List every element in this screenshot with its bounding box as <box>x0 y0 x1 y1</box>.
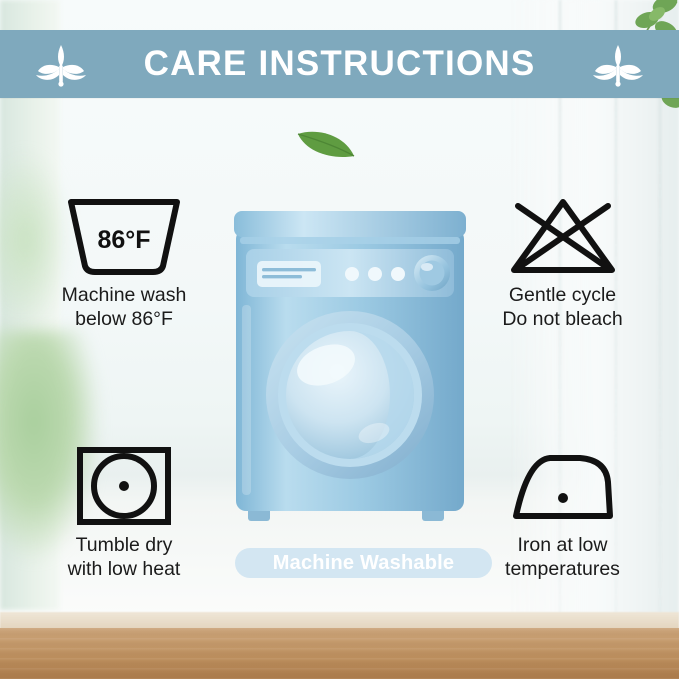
care-icon-tumble-dry: Tumble dry with low heat <box>14 446 234 582</box>
care-icon-machine-wash: 86°F Machine wash below 86°F <box>14 196 234 332</box>
fleur-de-lis-ornament-right-icon <box>581 41 655 87</box>
washing-machine-illustration <box>226 205 474 535</box>
tumble-dry-low-heat-icon <box>69 446 179 526</box>
status-badge: Machine Washable <box>235 548 492 578</box>
care-icon-iron: Iron at low temperatures <box>455 446 670 582</box>
care-caption-tumble-dry: Tumble dry with low heat <box>14 534 234 582</box>
do-not-bleach-triangle-icon <box>504 196 622 276</box>
care-caption-iron: Iron at low temperatures <box>455 534 670 582</box>
care-caption-gentle-cycle: Gentle cycle Do not bleach <box>455 284 670 332</box>
care-caption-machine-wash: Machine wash below 86°F <box>14 284 234 332</box>
header-banner: CARE INSTRUCTIONS <box>0 30 679 98</box>
iron-low-temperature-icon <box>504 446 622 526</box>
status-badge-label: Machine Washable <box>273 552 454 575</box>
fleur-de-lis-ornament-left-icon <box>24 41 98 87</box>
wash-temperature-value: 86°F <box>97 226 150 254</box>
wash-tub-icon: 86°F <box>65 196 183 276</box>
care-instructions-graphic: CARE INSTRUCTIONS <box>0 0 679 679</box>
background-wood-grain <box>0 628 679 679</box>
care-icon-gentle-cycle: Gentle cycle Do not bleach <box>455 196 670 332</box>
page-title: CARE INSTRUCTIONS <box>144 44 536 84</box>
floating-leaf-icon <box>296 128 358 162</box>
